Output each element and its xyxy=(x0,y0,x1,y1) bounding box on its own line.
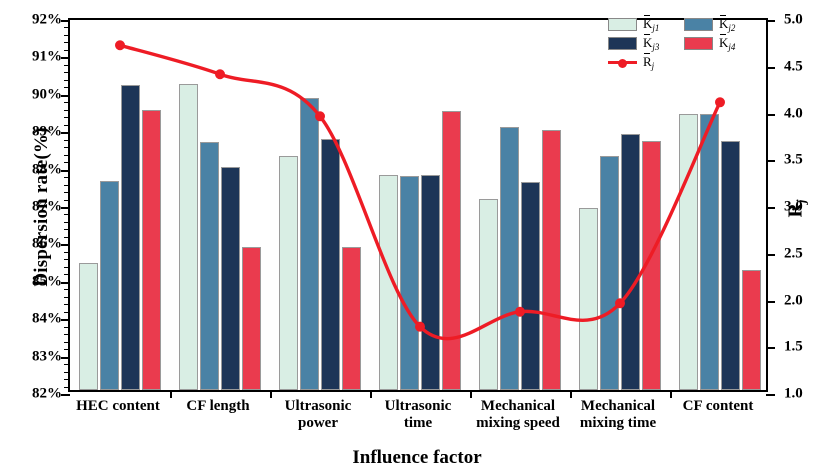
y-axis-left-tick-label: 89% xyxy=(32,124,62,141)
x-axis-category-line: mixing speed xyxy=(468,415,568,432)
y-axis-left-tick-label: 83% xyxy=(32,348,62,365)
y-axis-right-tick xyxy=(766,394,775,396)
y-axis-left-tick-label: 84% xyxy=(32,311,62,328)
y-axis-right-tick-label: 4.5 xyxy=(784,58,803,75)
line-series-layer: R_j = 4.73R_j = 4.42R_j = 3.97R_j = 1.72… xyxy=(70,20,770,394)
y-axis-left-tick xyxy=(61,357,70,359)
legend-row: Rj xyxy=(608,54,760,71)
x-axis-separator xyxy=(470,390,472,398)
y-axis-right-tick-label: 3.5 xyxy=(784,152,803,169)
y-axis-left-tick-label: 87% xyxy=(32,199,62,216)
legend-entry-label: Kj1 xyxy=(643,16,659,33)
legend-entry-label: Rj xyxy=(643,54,654,71)
y-axis-left-tick-label: 85% xyxy=(32,273,62,290)
y-axis-left-tick xyxy=(61,20,70,22)
x-axis-category-line: HEC content xyxy=(68,398,168,415)
legend-entry-kj1[interactable]: Kj1 xyxy=(608,16,684,33)
rj-marker-2: R_j = 3.97 xyxy=(315,111,325,121)
x-axis-category-label-4: Mechanicalmixing speed xyxy=(468,398,568,432)
x-axis-category-line: Mechanical xyxy=(468,398,568,415)
y-axis-right-tick-label: 4.0 xyxy=(784,105,803,122)
y-axis-right-tick-label: 3.0 xyxy=(784,199,803,216)
x-axis-category-label-1: CF length xyxy=(168,398,268,415)
y-axis-right-tick-label: 1.5 xyxy=(784,339,803,356)
legend-swatch-icon xyxy=(608,37,637,50)
legend-row: Kj3Kj4 xyxy=(608,35,760,52)
y-axis-right-tick-label: 2.0 xyxy=(784,292,803,309)
y-axis-left-tick xyxy=(61,319,70,321)
x-axis-category-line: CF content xyxy=(668,398,768,415)
y-axis-left-tick xyxy=(61,244,70,246)
y-axis-left-tick-label: 88% xyxy=(32,161,62,178)
y-axis-left-tick-label: 91% xyxy=(32,49,62,66)
x-axis-category-label-0: HEC content xyxy=(68,398,168,415)
x-axis-category-label-3: Ultrasonictime xyxy=(368,398,468,432)
y-axis-right-tick-label: 2.5 xyxy=(784,245,803,262)
x-axis-separator xyxy=(370,390,372,398)
chart-root: Dispersion rate(%) Rj Influence factor 8… xyxy=(0,0,834,473)
x-axis-separator xyxy=(570,390,572,398)
legend-row: Kj1Kj2 xyxy=(608,16,760,33)
legend-entry-kj2[interactable]: Kj2 xyxy=(684,16,760,33)
y-axis-left-tick-label: 90% xyxy=(32,86,62,103)
y-axis-left-tick-label: 86% xyxy=(32,236,62,253)
x-axis-category-line: power xyxy=(268,415,368,432)
y-axis-left-tick-label: 82% xyxy=(32,386,62,403)
y-axis-left-tick xyxy=(61,282,70,284)
rj-line-path xyxy=(120,45,720,338)
legend-swatch-icon xyxy=(684,37,713,50)
x-axis-category-label-6: CF content xyxy=(668,398,768,415)
x-axis-category-label-5: Mechanicalmixing time xyxy=(568,398,668,432)
chart-legend: Kj1Kj2Kj3Kj4Rj xyxy=(608,16,760,73)
x-axis-category-line: time xyxy=(368,415,468,432)
x-axis-separator xyxy=(670,390,672,398)
x-axis-category-label-2: Ultrasonicpower xyxy=(268,398,368,432)
y-axis-left-tick xyxy=(61,207,70,209)
rj-marker-4: R_j = 1.88 xyxy=(515,307,525,317)
x-axis-title: Influence factor xyxy=(0,447,834,469)
legend-entry-rj[interactable]: Rj xyxy=(608,54,684,71)
legend-entry-kj3[interactable]: Kj3 xyxy=(608,35,684,52)
rj-marker-5: R_j = 1.97 xyxy=(615,298,625,308)
x-axis-category-line: Ultrasonic xyxy=(368,398,468,415)
legend-swatch-icon xyxy=(684,18,713,31)
y-axis-left-tick xyxy=(61,170,70,172)
x-axis-category-line: CF length xyxy=(168,398,268,415)
rj-marker-3: R_j = 1.72 xyxy=(415,322,425,332)
x-axis-category-line: mixing time xyxy=(568,415,668,432)
y-axis-right-tick-label: 1.0 xyxy=(784,386,803,403)
legend-entry-label: Kj4 xyxy=(719,35,735,52)
legend-entry-kj4[interactable]: Kj4 xyxy=(684,35,760,52)
legend-swatch-icon xyxy=(608,18,637,31)
y-axis-left-tick xyxy=(61,394,70,396)
rj-marker-1: R_j = 4.42 xyxy=(215,69,225,79)
y-axis-right-tick-label: 5.0 xyxy=(784,12,803,29)
legend-entry-label: Kj3 xyxy=(643,35,659,52)
rj-marker-6: R_j = 4.12 xyxy=(715,97,725,107)
rj-marker-0: R_j = 4.73 xyxy=(115,40,125,50)
y-axis-left-tick xyxy=(61,132,70,134)
y-axis-left-tick-label: 92% xyxy=(32,12,62,29)
legend-line-marker-icon xyxy=(608,56,637,69)
plot-area: 82%83%84%85%86%87%88%89%90%91%92% 1.01.5… xyxy=(68,18,768,392)
legend-entry-label: Kj2 xyxy=(719,16,735,33)
x-axis-separator xyxy=(170,390,172,398)
y-axis-left-tick xyxy=(61,95,70,97)
x-axis-separator xyxy=(270,390,272,398)
x-axis-category-line: Mechanical xyxy=(568,398,668,415)
x-axis-category-line: Ultrasonic xyxy=(268,398,368,415)
y-axis-left-tick xyxy=(61,57,70,59)
